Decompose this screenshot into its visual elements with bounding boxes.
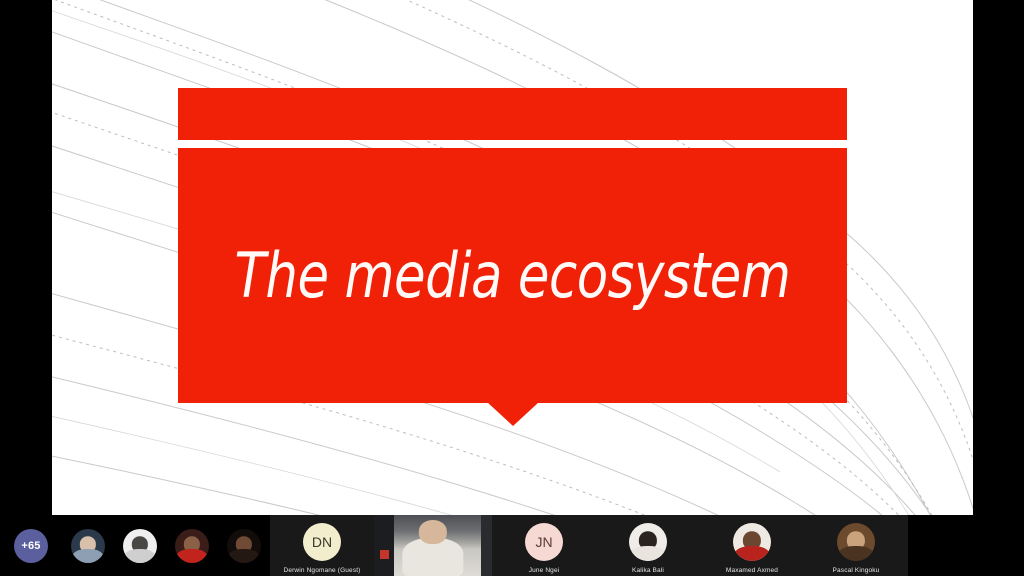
participant-tile[interactable] [218, 515, 270, 576]
avatar-initials-dn: DN [303, 523, 341, 561]
participant-name: Derwin Ngomane (Guest) [270, 567, 374, 574]
presentation-slide: The media ecosystem [52, 0, 973, 515]
participant-tile-june-ngei[interactable]: JN June Ngei [492, 515, 596, 576]
avatar [837, 523, 875, 561]
slide-speech-bubble: The media ecosystem [178, 88, 847, 428]
participant-tile-kalika-bali[interactable]: Kalika Bali [596, 515, 700, 576]
overflow-count-badge[interactable]: +65 [14, 529, 48, 563]
avatar [175, 529, 209, 563]
participant-tile[interactable] [166, 515, 218, 576]
speech-bubble-top-bar [178, 88, 847, 140]
screen-share-stage: The media ecosystem [0, 0, 1024, 515]
video-feed [374, 515, 492, 576]
avatar [227, 529, 261, 563]
participant-tile-derwin-ngomane[interactable]: DN Derwin Ngomane (Guest) [270, 515, 374, 576]
participant-tile[interactable] [114, 515, 166, 576]
participant-overflow-tile[interactable]: +65 [0, 515, 62, 576]
participant-name: June Ngei [492, 567, 596, 574]
avatar [71, 529, 105, 563]
avatar-initials-jn: JN [525, 523, 563, 561]
participant-name: Pascal Kingoku [804, 567, 908, 574]
speech-bubble-tail [487, 402, 539, 426]
avatar [629, 523, 667, 561]
participant-filmstrip[interactable]: +65 DN Derwin Ngomane (Guest) JN June Ng… [0, 515, 1024, 576]
participant-tile-live-video[interactable] [374, 515, 492, 576]
avatar [733, 523, 771, 561]
participant-tile-maxamed-axmed[interactable]: Maxamed Axmed [700, 515, 804, 576]
participant-name: Kalika Bali [596, 567, 700, 574]
slide-title: The media ecosystem [205, 148, 820, 403]
avatar [123, 529, 157, 563]
participant-tile[interactable] [62, 515, 114, 576]
participant-tile-pascal-kingoku[interactable]: Pascal Kingoku [804, 515, 908, 576]
participant-name: Maxamed Axmed [700, 567, 804, 574]
